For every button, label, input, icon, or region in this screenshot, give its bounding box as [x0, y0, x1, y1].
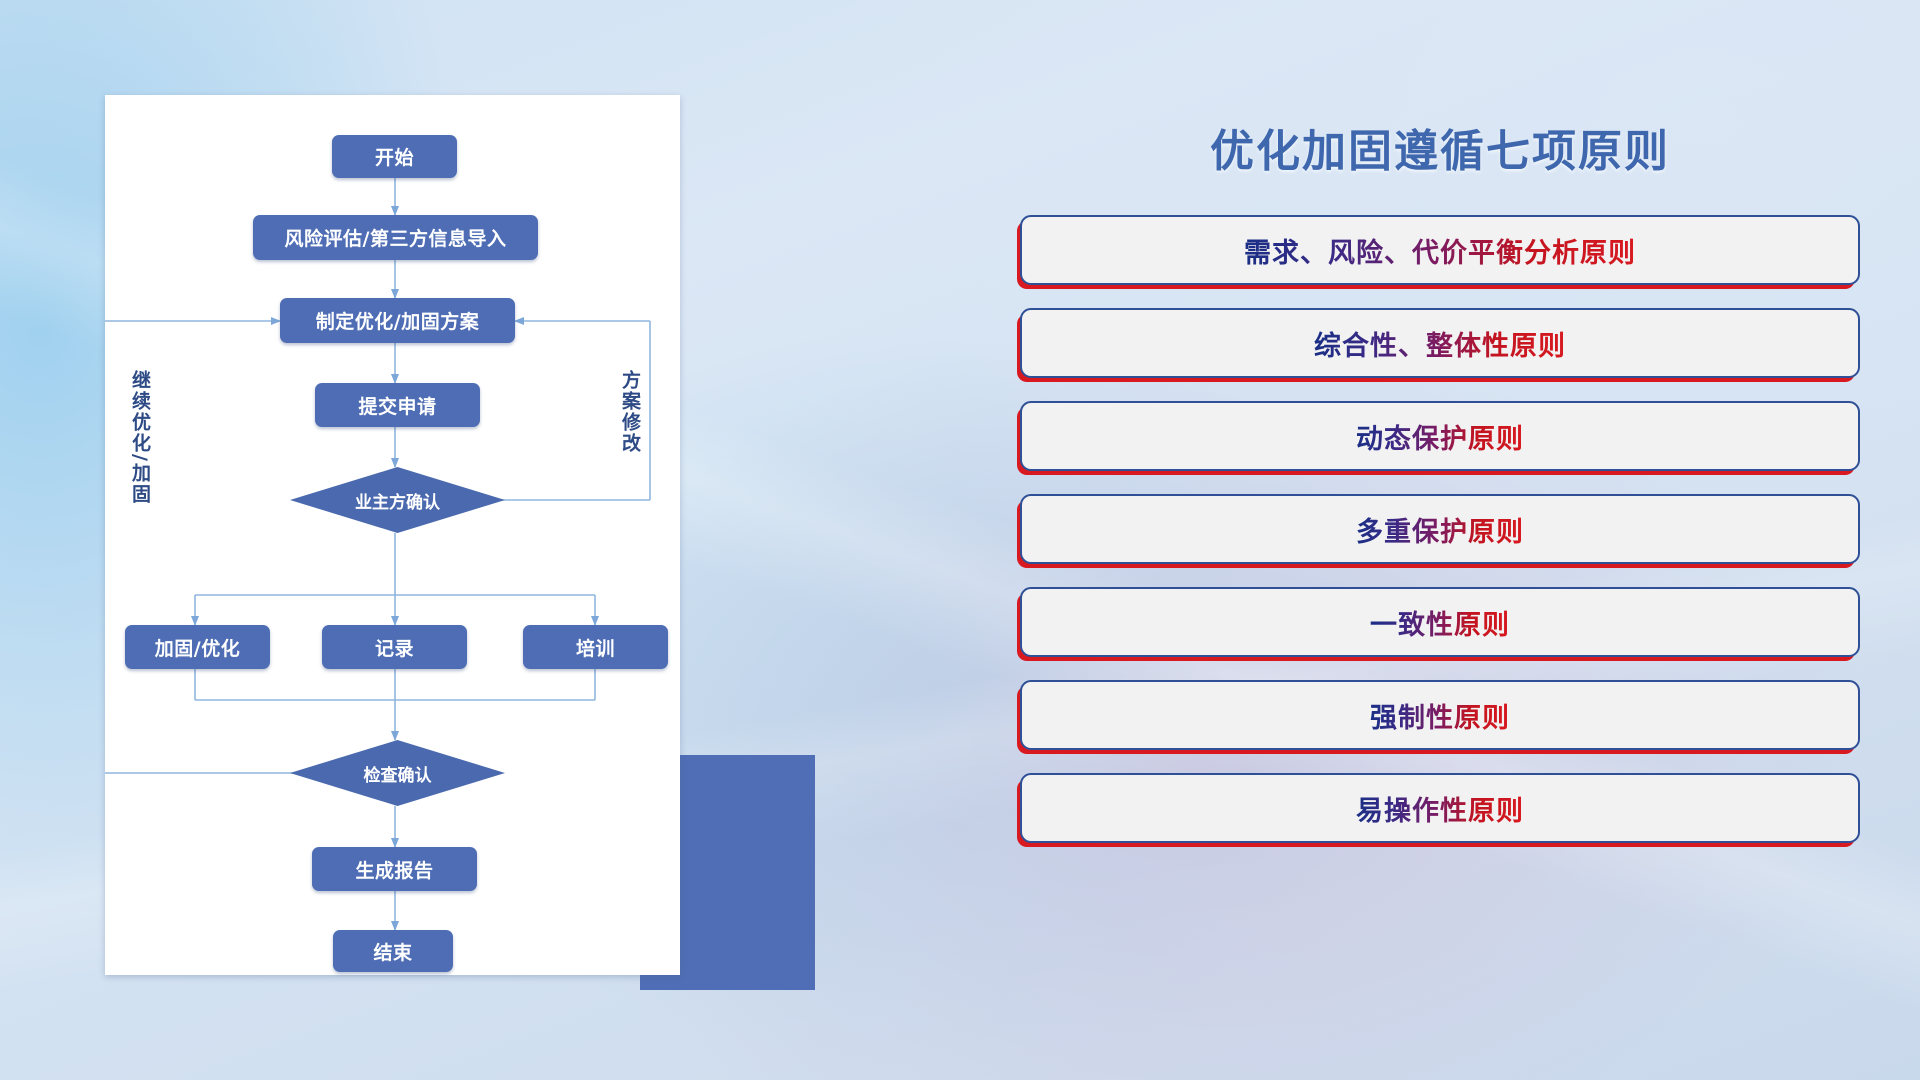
flow-edge-label-continue-optimize: 继续优化/加固	[127, 370, 154, 505]
slide-canvas: 开始 风险评估/第三方信息导入 制定优化/加固方案 提交申请 业主方确认 加固/…	[0, 0, 1920, 1080]
principle-label: 强制性原则	[1370, 696, 1510, 735]
principles-panel: 优化加固遵循七项原则 需求、风险、代价平衡分析原则 综合性、整体性原则 动态保护…	[1020, 95, 1860, 1005]
flow-node-generate-report[interactable]: 生成报告	[312, 847, 477, 891]
flow-node-submit-application[interactable]: 提交申请	[315, 383, 480, 427]
flow-node-start[interactable]: 开始	[332, 135, 457, 178]
principle-item[interactable]: 一致性原则	[1020, 587, 1860, 657]
principle-item[interactable]: 易操作性原则	[1020, 773, 1860, 843]
flow-node-risk-assessment[interactable]: 风险评估/第三方信息导入	[253, 215, 538, 260]
principle-item[interactable]: 强制性原则	[1020, 680, 1860, 750]
principle-item[interactable]: 多重保护原则	[1020, 494, 1860, 564]
flow-node-record[interactable]: 记录	[322, 625, 467, 669]
flowchart-card: 开始 风险评估/第三方信息导入 制定优化/加固方案 提交申请 业主方确认 加固/…	[105, 95, 680, 975]
principle-label: 易操作性原则	[1356, 789, 1524, 828]
flow-node-training[interactable]: 培训	[523, 625, 668, 669]
principle-item[interactable]: 动态保护原则	[1020, 401, 1860, 471]
panel-title: 优化加固遵循七项原则	[1020, 115, 1860, 179]
flow-node-reinforce[interactable]: 加固/优化	[125, 625, 270, 669]
principle-label: 需求、风险、代价平衡分析原则	[1244, 231, 1636, 270]
principle-label: 综合性、整体性原则	[1314, 324, 1566, 363]
flow-edge-label-plan-revision: 方案修改	[617, 370, 644, 454]
principle-item[interactable]: 综合性、整体性原则	[1020, 308, 1860, 378]
principle-label: 多重保护原则	[1356, 510, 1524, 549]
principle-item[interactable]: 需求、风险、代价平衡分析原则	[1020, 215, 1860, 285]
flowchart: 开始 风险评估/第三方信息导入 制定优化/加固方案 提交申请 业主方确认 加固/…	[105, 95, 680, 975]
principle-label: 一致性原则	[1370, 603, 1510, 642]
principles-list: 需求、风险、代价平衡分析原则 综合性、整体性原则 动态保护原则 多重保护原则 一…	[1020, 215, 1860, 866]
flow-node-plan[interactable]: 制定优化/加固方案	[280, 298, 515, 343]
principle-label: 动态保护原则	[1356, 417, 1524, 456]
flow-node-end[interactable]: 结束	[333, 930, 453, 972]
